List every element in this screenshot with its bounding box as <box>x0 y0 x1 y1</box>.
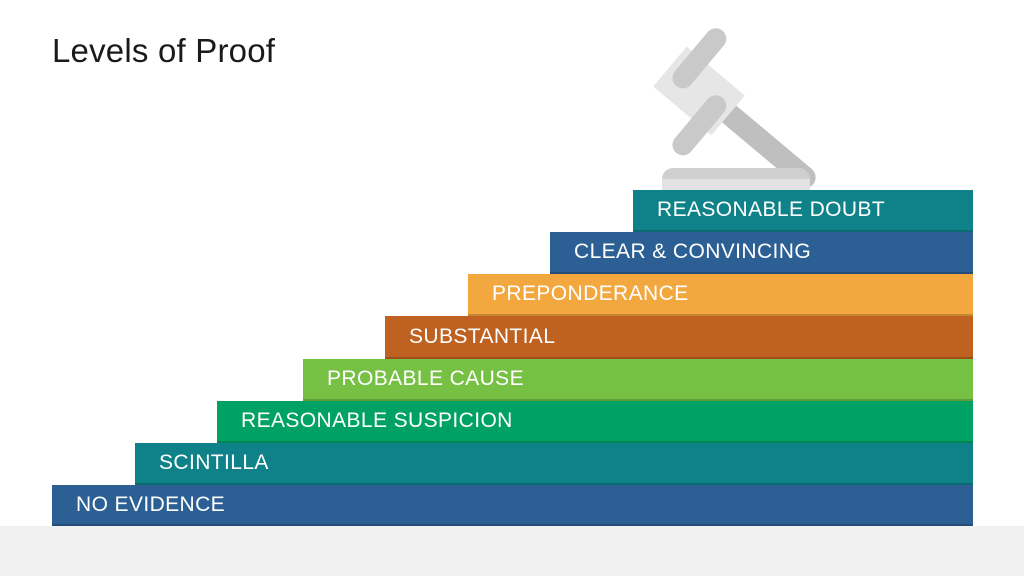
level-bar[interactable]: SUBSTANTIAL <box>385 316 973 359</box>
level-bar[interactable]: CLEAR & CONVINCING <box>550 232 973 274</box>
level-bar-label: REASONABLE SUSPICION <box>217 409 513 433</box>
level-bar[interactable]: REASONABLE DOUBT <box>633 190 973 232</box>
level-bar-label: NO EVIDENCE <box>52 493 225 517</box>
level-bar[interactable]: SCINTILLA <box>135 443 973 485</box>
page-title: Levels of Proof <box>52 31 275 71</box>
level-bar-label: SUBSTANTIAL <box>385 325 555 349</box>
level-bar[interactable]: PREPONDERANCE <box>468 274 973 316</box>
level-bar-label: PROBABLE CAUSE <box>303 367 524 391</box>
slide-canvas: Levels of Proof REASONABLE DOUBTCLEAR & … <box>0 0 1024 576</box>
footer-strip <box>0 526 1024 576</box>
gavel-sound-block-top-icon <box>662 168 810 179</box>
level-bar-label: SCINTILLA <box>135 451 269 475</box>
level-bar[interactable]: PROBABLE CAUSE <box>303 359 973 401</box>
level-bar-label: PREPONDERANCE <box>468 282 689 306</box>
level-bar[interactable]: NO EVIDENCE <box>52 485 973 526</box>
level-bar-label: CLEAR & CONVINCING <box>550 240 811 264</box>
level-bar[interactable]: REASONABLE SUSPICION <box>217 401 973 443</box>
level-bar-label: REASONABLE DOUBT <box>633 198 885 222</box>
